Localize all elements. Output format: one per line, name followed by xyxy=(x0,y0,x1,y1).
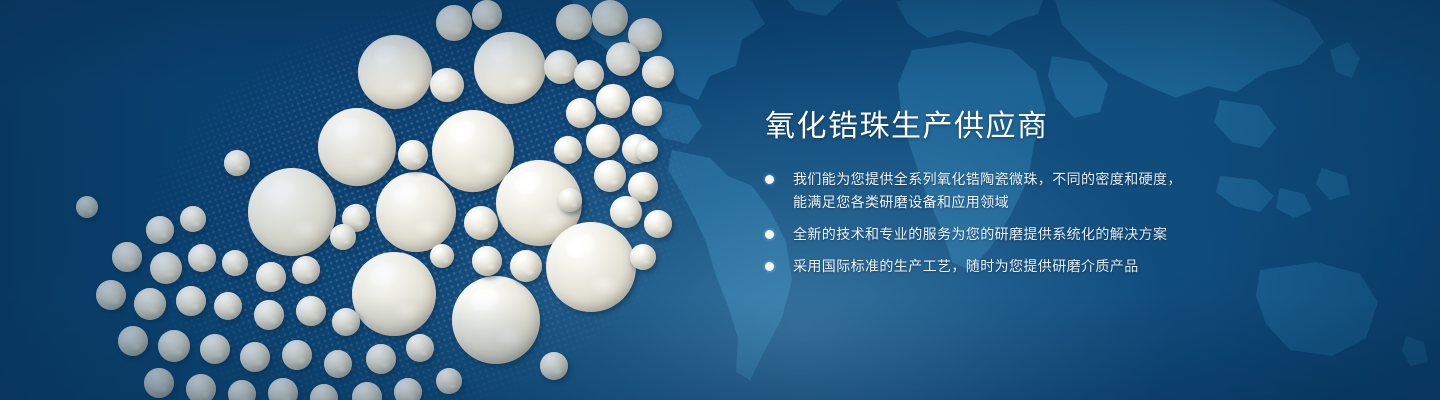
hero-banner: 氧化锆珠生产供应商 我们能为您提供全系列氧化锆陶瓷微珠，不同的密度和硬度， 能满… xyxy=(0,0,1440,400)
background-vignette xyxy=(0,0,1440,400)
